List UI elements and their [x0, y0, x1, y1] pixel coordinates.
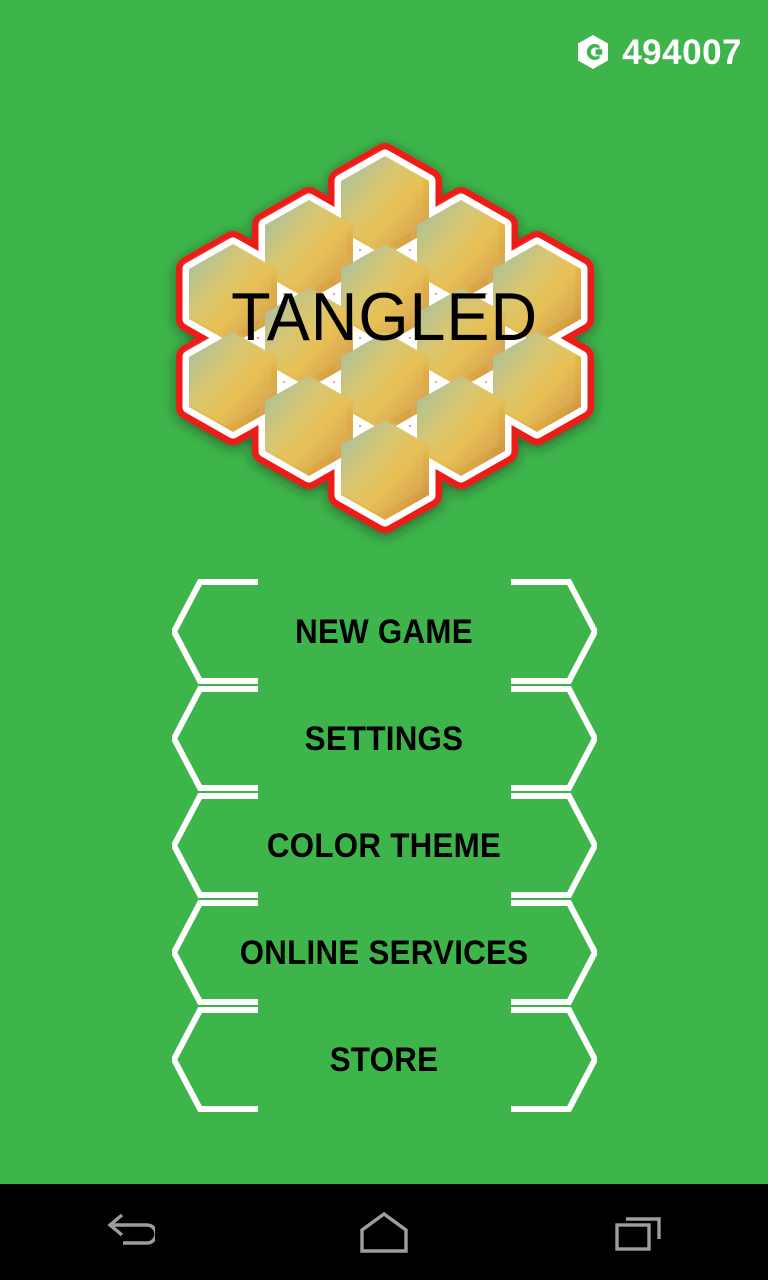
score-bar: 494007: [0, 0, 768, 104]
hex-cap-right-icon: [511, 792, 597, 899]
coin-hexagon-icon: [578, 35, 608, 69]
hex-cap-left-icon: [172, 1006, 258, 1113]
menu-item-store[interactable]: STORE: [0, 1006, 768, 1113]
nav-recents-button[interactable]: [512, 1184, 768, 1280]
menu-item-label: STORE: [261, 1006, 508, 1113]
hex-cap-left-icon: [172, 792, 258, 899]
menu-item-label: ONLINE SERVICES: [261, 899, 508, 1006]
hex-cap-right-icon: [511, 578, 597, 685]
score-value: 494007: [622, 35, 742, 70]
menu-item-new-game[interactable]: NEW GAME: [0, 578, 768, 685]
android-navigation-bar: [0, 1184, 768, 1280]
menu-item-color-theme[interactable]: COLOR THEME: [0, 792, 768, 899]
hex-cap-left-icon: [172, 685, 258, 792]
hex-cap-left-icon: [172, 578, 258, 685]
recents-icon: [612, 1211, 668, 1253]
menu-item-label: NEW GAME: [261, 578, 508, 685]
game-main-menu-screen: 494007: [0, 0, 768, 1280]
menu-item-label: COLOR THEME: [261, 792, 508, 899]
menu-item-settings[interactable]: SETTINGS: [0, 685, 768, 792]
hex-cap-right-icon: [511, 1006, 597, 1113]
hex-cap-right-icon: [511, 899, 597, 1006]
main-menu: NEW GAME SETTINGS COLOR THEME: [0, 578, 768, 1113]
nav-home-button[interactable]: [256, 1184, 512, 1280]
menu-item-online-services[interactable]: ONLINE SERVICES: [0, 899, 768, 1006]
game-logo: TANGLED: [198, 132, 572, 502]
back-arrow-icon: [101, 1210, 155, 1254]
nav-back-button[interactable]: [0, 1184, 256, 1280]
home-icon: [356, 1211, 412, 1253]
menu-item-label: SETTINGS: [261, 685, 508, 792]
hex-cap-right-icon: [511, 685, 597, 792]
